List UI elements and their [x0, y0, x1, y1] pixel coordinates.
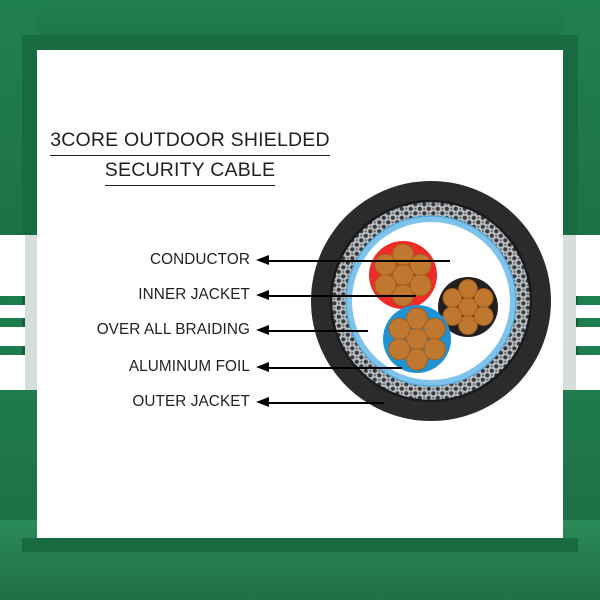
callout-aluminum-foil-label: ALUMINUM FOIL — [40, 358, 256, 376]
page-title-line-1: 3CORE OUTDOOR SHIELDED — [50, 128, 330, 156]
callout-outer-jacket-arrow — [256, 397, 384, 407]
callout-aluminum-foil-arrow — [256, 362, 402, 372]
callout-inner-jacket[interactable]: INNER JACKET — [40, 285, 450, 305]
green-frame-inner-edge-left — [22, 35, 37, 235]
callout-overall-braiding[interactable]: OVER ALL BRAIDING — [40, 320, 450, 340]
green-frame-inner-edge-bottom — [22, 538, 578, 552]
callout-conductor-arrow — [256, 255, 450, 265]
poster-canvas: 3CORE OUTDOOR SHIELDED SECURITY CABLE — [0, 0, 600, 600]
callout-aluminum-foil[interactable]: ALUMINUM FOIL — [40, 357, 450, 377]
callout-conductor[interactable]: CONDUCTOR — [40, 250, 450, 270]
grey-guide-strip-right-lower — [563, 294, 576, 394]
arrow-line — [267, 295, 416, 297]
green-block-left-lower — [0, 390, 37, 520]
callout-outer-jacket-label: OUTER JACKET — [40, 393, 256, 411]
arrow-line — [267, 367, 402, 369]
callout-overall-braiding-label: OVER ALL BRAIDING — [40, 321, 256, 339]
callout-inner-jacket-arrow — [256, 290, 416, 300]
green-frame-inner-edge-top — [22, 35, 578, 50]
arrow-line — [267, 330, 368, 332]
page-title: 3CORE OUTDOOR SHIELDED SECURITY CABLE — [40, 128, 340, 186]
callout-inner-jacket-label: INNER JACKET — [40, 286, 256, 304]
grey-guide-strip-right-upper — [563, 232, 576, 294]
page-title-line-2: SECURITY CABLE — [105, 158, 275, 186]
arrow-line — [267, 260, 450, 262]
callout-outer-jacket[interactable]: OUTER JACKET — [40, 392, 450, 412]
green-frame-inner-edge-right — [563, 35, 578, 235]
arrow-line — [267, 402, 384, 404]
callout-conductor-label: CONDUCTOR — [40, 251, 256, 269]
callout-overall-braiding-arrow — [256, 325, 368, 335]
green-block-right-lower — [563, 390, 600, 520]
